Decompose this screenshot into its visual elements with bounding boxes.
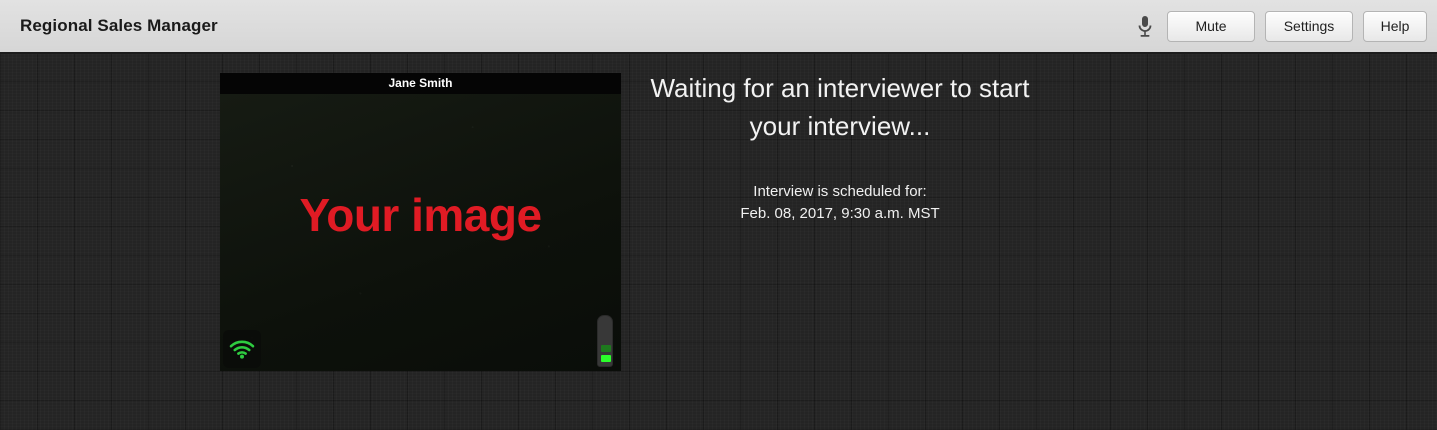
- waiting-heading-line-2: your interview...: [639, 107, 1041, 145]
- scheduled-info: Interview is scheduled for: Feb. 08, 201…: [639, 181, 1041, 225]
- help-button[interactable]: Help: [1363, 11, 1427, 42]
- mute-button[interactable]: Mute: [1167, 11, 1255, 42]
- scheduled-label: Interview is scheduled for:: [639, 181, 1041, 203]
- main-stage: Jane Smith Your image: [0, 54, 1437, 430]
- audio-level-meter: [597, 315, 613, 367]
- video-feed: Your image: [220, 94, 621, 371]
- settings-button[interactable]: Settings: [1265, 11, 1353, 42]
- video-watermark-text: Your image: [220, 188, 621, 242]
- microphone-icon[interactable]: [1135, 14, 1155, 40]
- level-segment-upper: [601, 345, 611, 352]
- scheduled-datetime: Feb. 08, 2017, 9:30 a.m. MST: [639, 203, 1041, 225]
- waiting-heading-line-1: Waiting for an interviewer to start: [639, 69, 1041, 107]
- level-segment-lower: [601, 355, 611, 362]
- waiting-status-block: Waiting for an interviewer to start your…: [639, 69, 1041, 225]
- participant-name-bar: Jane Smith: [220, 73, 621, 94]
- header-actions: Mute Settings Help: [1135, 11, 1427, 42]
- app-header: Regional Sales Manager Mute Settings Hel…: [0, 0, 1437, 54]
- interview-waiting-room: Regional Sales Manager Mute Settings Hel…: [0, 0, 1437, 430]
- wifi-icon: [223, 330, 261, 368]
- self-video-panel[interactable]: Jane Smith Your image: [220, 73, 621, 371]
- page-title: Regional Sales Manager: [20, 16, 218, 36]
